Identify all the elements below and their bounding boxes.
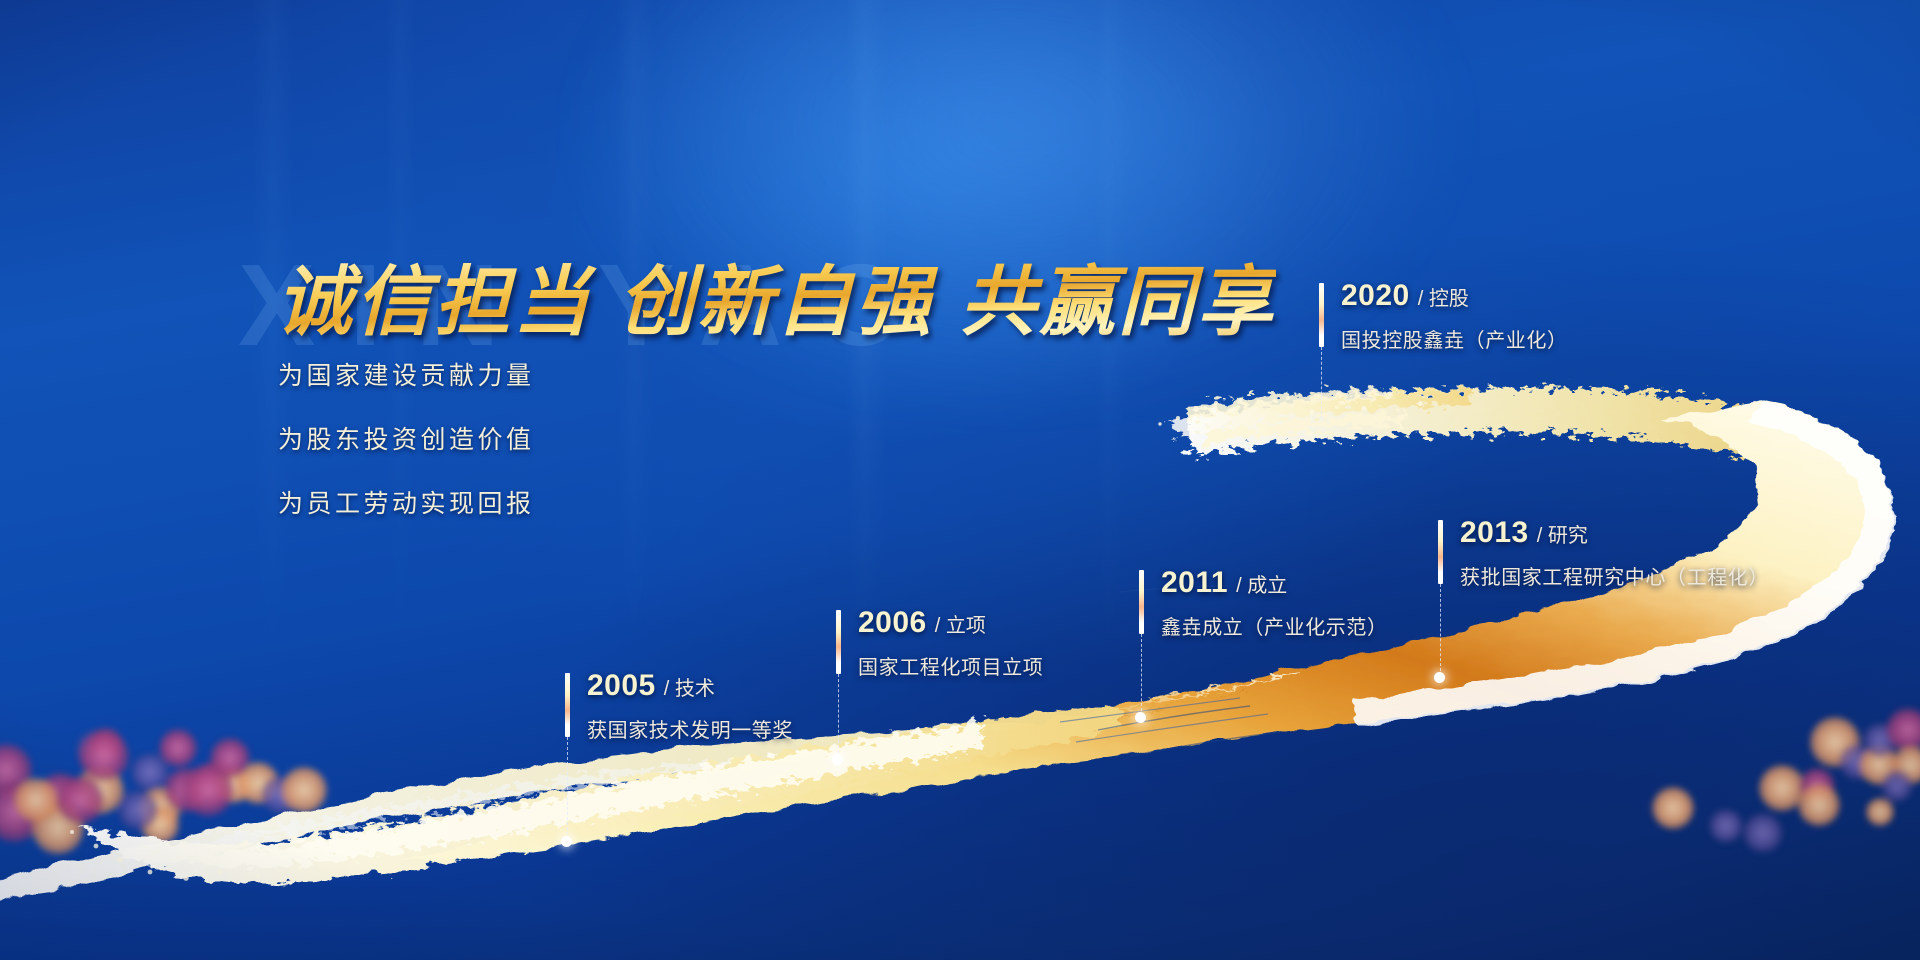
headline-part-2: 创新自强 [618, 260, 934, 345]
milestone-description: 获国家技术发明一等奖 [587, 714, 793, 743]
milestone-separator: / [935, 615, 941, 637]
ribbon-main-body [400, 400, 1895, 862]
slogan-line-1: 为国家建设贡献力量 [278, 356, 535, 392]
milestone-separator: / [664, 678, 670, 700]
milestone-category-label: 成立 [1247, 575, 1287, 597]
milestone-dot [832, 754, 843, 765]
milestone-accent-bar [1319, 283, 1324, 347]
milestone-leader-line [1141, 634, 1143, 716]
milestone-text: 2005/ 技术 获国家技术发明一等奖 [587, 669, 793, 743]
milestone-leader-line [1321, 347, 1323, 419]
slogan-line-3: 为员工劳动实现回报 [278, 484, 535, 520]
page-title: 诚信担当创新自强共赢同享 [276, 240, 1276, 350]
milestone-text: 2013/ 研究 获批国家工程研究中心（工程化） [1460, 516, 1769, 590]
milestone-leader-line [567, 737, 569, 840]
milestone-category: / 控股 [1418, 288, 1469, 310]
milestone-dot [561, 836, 572, 847]
milestone-dot [1135, 712, 1146, 723]
milestone-category-label: 控股 [1429, 288, 1469, 310]
milestone-year: 2013 [1460, 516, 1529, 549]
milestone-description: 国投控股鑫垚（产业化） [1341, 324, 1568, 353]
banner-canvas: XIN YAO 诚信担当创新自强共赢同享 为国家建设贡献力量 为股东投资创造价值… [0, 0, 1920, 960]
milestone-separator: / [1537, 525, 1543, 547]
milestone-separator: / [1418, 288, 1424, 310]
milestone-accent-bar [565, 673, 570, 737]
ribbon-upper-sweep [1158, 388, 1790, 470]
milestone-leader-line [838, 674, 840, 758]
milestone-accent-bar [1139, 570, 1144, 634]
milestone-description: 鑫垚成立（产业化示范） [1161, 611, 1388, 640]
milestone-accent-bar [1438, 520, 1443, 584]
slogan-list: 为国家建设贡献力量 为股东投资创造价值 为员工劳动实现回报 [278, 356, 535, 548]
milestone-text: 2011/ 成立 鑫垚成立（产业化示范） [1161, 566, 1388, 640]
milestone-accent-bar [836, 610, 841, 674]
milestone-category-label: 技术 [675, 678, 715, 700]
milestone-category: / 技术 [664, 678, 715, 700]
milestone-text: 2020/ 控股 国投控股鑫垚（产业化） [1341, 279, 1568, 353]
milestone-category-label: 立项 [946, 615, 986, 637]
milestone-category: / 立项 [935, 615, 986, 637]
milestone-year: 2011 [1161, 566, 1228, 599]
bokeh-left [0, 728, 327, 854]
milestone-category: / 研究 [1537, 525, 1588, 547]
milestone-dot [1434, 672, 1445, 683]
milestone-year: 2020 [1341, 279, 1410, 312]
headline-part-3: 共赢同享 [960, 260, 1276, 345]
milestone-category-label: 研究 [1548, 525, 1588, 547]
headline-part-1: 诚信担当 [276, 260, 592, 345]
milestone-category: / 成立 [1236, 575, 1287, 597]
bokeh-right [1652, 708, 1920, 853]
milestone-year: 2006 [858, 606, 927, 639]
slogan-line-2: 为股东投资创造价值 [278, 420, 535, 456]
milestone-year: 2005 [587, 669, 656, 702]
milestone-text: 2006/ 立项 国家工程化项目立项 [858, 606, 1043, 680]
milestone-description: 获批国家工程研究中心（工程化） [1460, 561, 1769, 590]
milestone-description: 国家工程化项目立项 [858, 651, 1043, 680]
milestone-separator: / [1236, 575, 1242, 597]
brush-flicks-dark [1098, 706, 1280, 756]
bottom-swoosh [0, 722, 1062, 902]
milestone-leader-line [1440, 584, 1442, 676]
